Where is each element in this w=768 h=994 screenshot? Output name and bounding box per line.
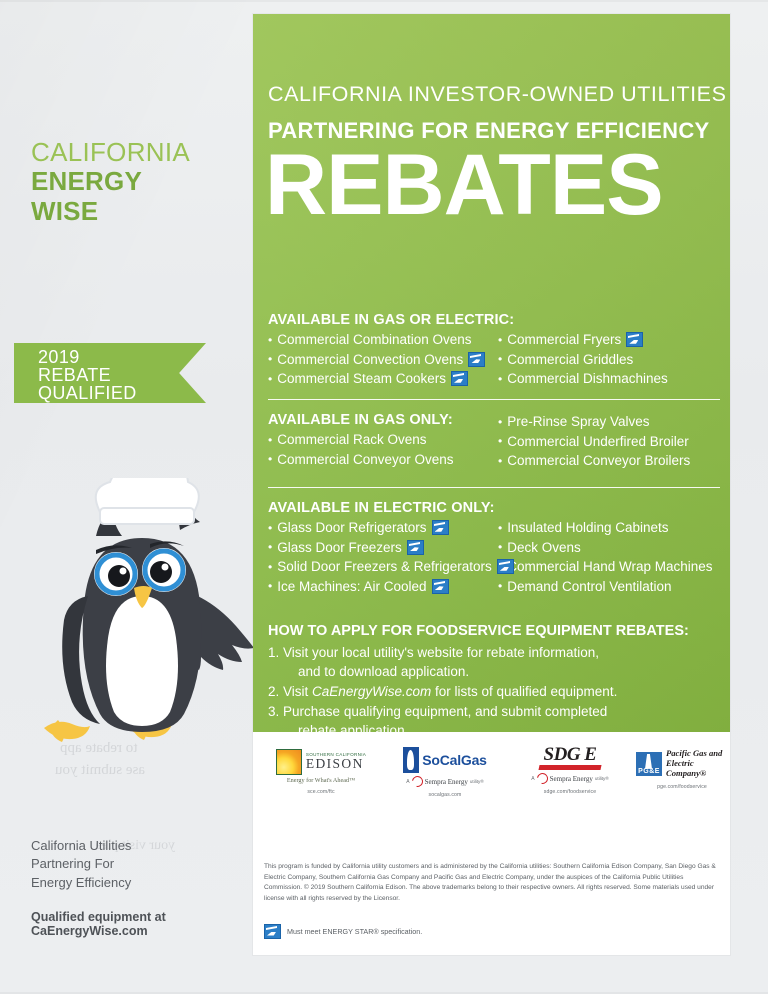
sdge-red-bar xyxy=(538,765,601,770)
equipment-item: •Commercial Rack Ovens xyxy=(268,430,498,450)
energy-star-icon xyxy=(432,520,449,535)
energy-star-icon xyxy=(626,332,643,347)
sempra-article: A xyxy=(406,779,409,785)
how-to-apply-block: HOW TO APPLY FOR FOODSERVICE EQUIPMENT R… xyxy=(268,623,720,741)
sce-lockup: SOUTHERN CALIFORNIA EDISON xyxy=(261,749,381,775)
equipment-label: Glass Door Refrigerators xyxy=(277,518,426,538)
chef-owl-mascot xyxy=(22,478,262,763)
apply-step-text: Visit your local utility's website for r… xyxy=(283,645,599,660)
apply-step-text: Visit xyxy=(283,684,312,699)
pge-badge-icon: PG&E xyxy=(636,752,662,776)
equipment-label: Commercial Conveyor Ovens xyxy=(277,450,453,470)
sunburst-icon xyxy=(276,749,302,775)
equipment-label: Glass Door Freezers xyxy=(277,538,402,558)
equipment-label: Commercial Conveyor Broilers xyxy=(507,451,690,471)
flame-icon xyxy=(403,747,419,773)
brand-line-energy: ENERGY xyxy=(31,167,190,196)
apply-step-number: 1. xyxy=(268,645,279,660)
sempra-endorsement: A Sempra Energy utility® xyxy=(511,773,629,784)
bullet-icon: • xyxy=(498,373,502,385)
apply-step-number: 3. xyxy=(268,704,279,719)
equipment-item: •Solid Door Freezers & Refrigerators xyxy=(268,557,498,577)
sempra-swirl-icon xyxy=(409,774,424,789)
left-footer-text: California Utilities Partnering For Ener… xyxy=(31,837,253,938)
equipment-label: Insulated Holding Cabinets xyxy=(507,518,668,538)
logo-socalgas: SoCalGas A Sempra Energy utility® socalg… xyxy=(386,747,504,798)
equipment-item: •Commercial Combination Ovens xyxy=(268,330,498,350)
apply-step-text-tail: for lists of qualified equipment. xyxy=(431,684,617,699)
equipment-label: Ice Machines: Air Cooled xyxy=(277,577,426,597)
logo-sdge: SDG E A Sempra Energy utility® sdge.com/… xyxy=(511,745,629,795)
equipment-label: Commercial Steam Cookers xyxy=(277,369,446,389)
apply-step-continuation: and to download application. xyxy=(283,662,720,681)
energy-star-icon xyxy=(468,352,485,367)
section-column-right: •Insulated Holding Cabinets •Deck Ovens … xyxy=(498,518,720,596)
bullet-icon: • xyxy=(498,455,502,467)
equipment-item: •Commercial Dishmachines xyxy=(498,369,720,389)
apply-title: HOW TO APPLY FOR FOODSERVICE EQUIPMENT R… xyxy=(268,623,720,639)
sempra-article: A xyxy=(531,776,534,782)
legal-disclaimer: This program is funded by California uti… xyxy=(264,862,719,905)
bullet-icon: • xyxy=(268,353,272,365)
caenergywise-link[interactable]: CaEnergyWise.com xyxy=(312,684,431,699)
pge-wordmark: Pacific Gas and Electric Company® xyxy=(666,749,728,779)
section-column-left: •Commercial Combination Ovens •Commercia… xyxy=(268,330,498,389)
bullet-icon: • xyxy=(498,435,502,447)
section-title: AVAILABLE IN ELECTRIC ONLY: xyxy=(268,500,720,516)
section-electric-only: AVAILABLE IN ELECTRIC ONLY: •Glass Door … xyxy=(268,500,720,596)
utility-logo-row: SOUTHERN CALIFORNIA EDISON Energy for Wh… xyxy=(253,737,730,809)
sempra-swirl-icon xyxy=(534,771,549,786)
section-gas-or-electric: AVAILABLE IN GAS OR ELECTRIC: •Commercia… xyxy=(268,312,720,389)
apply-step: 3. Purchase qualifying equipment, and su… xyxy=(268,702,720,740)
equipment-label: Commercial Dishmachines xyxy=(507,369,668,389)
equipment-label: Commercial Underfired Broiler xyxy=(507,432,689,452)
bullet-icon: • xyxy=(268,373,272,385)
equipment-label: Solid Door Freezers & Refrigerators xyxy=(277,557,492,577)
section-column-left: AVAILABLE IN GAS ONLY: •Commercial Rack … xyxy=(268,412,498,471)
equipment-label: Deck Ovens xyxy=(507,538,581,558)
left-footer-qualified-note: Qualified equipment at CaEnergyWise.com xyxy=(31,910,253,938)
equipment-label: Pre-Rinse Spray Valves xyxy=(507,412,649,432)
bullet-icon: • xyxy=(498,416,502,428)
apply-step-number: 2. xyxy=(268,684,279,699)
section-divider xyxy=(268,487,720,488)
energy-star-icon xyxy=(407,540,424,555)
equipment-item: •Commercial Griddles xyxy=(498,350,720,370)
equipment-item: •Commercial Underfired Broiler xyxy=(498,432,720,452)
equipment-item: •Commercial Convection Ovens xyxy=(268,350,498,370)
section-title: AVAILABLE IN GAS OR ELECTRIC: xyxy=(268,312,720,328)
bullet-icon: • xyxy=(268,561,272,573)
energy-star-icon xyxy=(264,924,281,939)
socalgas-url[interactable]: socalgas.com xyxy=(386,792,504,798)
sdge-name: SDG E xyxy=(511,745,629,764)
bullet-icon: • xyxy=(498,334,502,346)
socalgas-name: SoCalGas xyxy=(422,752,487,768)
energy-star-icon xyxy=(432,579,449,594)
equipment-item: •Pre-Rinse Spray Valves xyxy=(498,412,720,432)
sempra-endorsement: A Sempra Energy utility® xyxy=(386,776,504,787)
energy-star-icon xyxy=(497,559,514,574)
equipment-label: Commercial Griddles xyxy=(507,350,633,370)
sempra-name: Sempra Energy xyxy=(550,775,593,783)
equipment-item: •Commercial Steam Cookers xyxy=(268,369,498,389)
socalgas-lockup: SoCalGas xyxy=(386,747,504,773)
energy-star-footnote-text: Must meet ENERGY STAR® specification. xyxy=(287,927,422,936)
bullet-icon: • xyxy=(498,353,502,365)
equipment-item: •Demand Control Ventilation xyxy=(498,577,720,597)
apply-step-continuation: rebate application. xyxy=(283,721,720,740)
left-footer-line-3: Energy Efficiency xyxy=(31,874,253,892)
equipment-label: Demand Control Ventilation xyxy=(507,577,671,597)
apply-step-text: Purchase qualifying equipment, and submi… xyxy=(283,704,607,719)
bullet-icon: • xyxy=(268,522,272,534)
header-eyebrow: CALIFORNIA INVESTOR-OWNED UTILITIES xyxy=(268,82,726,107)
equipment-item: •Insulated Holding Cabinets xyxy=(498,518,720,538)
pge-url[interactable]: pge.com/foodservice xyxy=(636,784,728,790)
left-branding-column: CALIFORNIA ENERGY WISE 2019 REBATE QUALI… xyxy=(0,0,253,994)
sempra-utility-label: utility® xyxy=(470,779,484,784)
pge-lockup: PG&E Pacific Gas and Electric Company® xyxy=(636,749,728,779)
section-gas-only: AVAILABLE IN GAS ONLY: •Commercial Rack … xyxy=(268,412,720,471)
left-footer-line-2: Partnering For xyxy=(31,855,253,873)
sce-url[interactable]: sce.com/ftc xyxy=(261,789,381,795)
bullet-icon: • xyxy=(498,522,502,534)
apply-step: 1. Visit your local utility's website fo… xyxy=(268,643,720,681)
ribbon-qualified: QUALIFIED xyxy=(38,383,137,404)
equipment-label: Commercial Rack Ovens xyxy=(277,430,426,450)
section-divider xyxy=(268,399,720,400)
sce-tagline: Energy for What's Ahead™ xyxy=(261,777,381,784)
bullet-icon: • xyxy=(268,434,272,446)
equipment-label: Commercial Fryers xyxy=(507,330,621,350)
equipment-item: •Ice Machines: Air Cooled xyxy=(268,577,498,597)
bullet-icon: • xyxy=(268,580,272,592)
bullet-icon: • xyxy=(268,453,272,465)
section-column-left: •Glass Door Refrigerators •Glass Door Fr… xyxy=(268,518,498,596)
brand-lockup: CALIFORNIA ENERGY WISE xyxy=(31,138,190,226)
rebate-qualified-ribbon: 2019 REBATE QUALIFIED xyxy=(14,343,206,403)
logo-sce: SOUTHERN CALIFORNIA EDISON Energy for Wh… xyxy=(261,749,381,795)
bullet-icon: • xyxy=(268,334,272,346)
apply-step: 2. Visit CaEnergyWise.com for lists of q… xyxy=(268,682,720,701)
brand-line-wise: WISE xyxy=(31,197,190,226)
page-title: REBATES xyxy=(265,142,663,228)
bullet-icon: • xyxy=(498,580,502,592)
equipment-item: •Commercial Hand Wrap Machines xyxy=(498,557,720,577)
pge-letters: PG&E xyxy=(638,768,660,775)
energy-star-icon xyxy=(451,371,468,386)
equipment-item: •Commercial Conveyor Ovens xyxy=(268,450,498,470)
sempra-utility-label: utility® xyxy=(595,776,609,781)
left-footer-line-1: California Utilities xyxy=(31,837,253,855)
energy-star-footnote: Must meet ENERGY STAR® specification. xyxy=(264,924,422,939)
equipment-label: Commercial Convection Ovens xyxy=(277,350,463,370)
flyer-card: CALIFORNIA INVESTOR-OWNED UTILITIES PART… xyxy=(253,14,730,955)
logo-pge: PG&E Pacific Gas and Electric Company® p… xyxy=(636,749,728,790)
brand-line-california: CALIFORNIA xyxy=(31,138,190,167)
equipment-item: •Deck Ovens xyxy=(498,538,720,558)
section-title: AVAILABLE IN GAS ONLY: xyxy=(268,412,498,428)
bullet-icon: • xyxy=(498,541,502,553)
equipment-item: •Glass Door Refrigerators xyxy=(268,518,498,538)
section-column-right: •Commercial Fryers •Commercial Griddles … xyxy=(498,330,720,389)
scanned-page: to rebate app ase submit you your visit … xyxy=(0,0,768,994)
section-column-right: •Pre-Rinse Spray Valves •Commercial Unde… xyxy=(498,412,720,471)
bullet-icon: • xyxy=(268,541,272,553)
equipment-item: •Commercial Fryers xyxy=(498,330,720,350)
equipment-item: •Glass Door Freezers xyxy=(268,538,498,558)
sce-wordmark: SOUTHERN CALIFORNIA EDISON xyxy=(306,753,366,772)
equipment-label: Commercial Combination Ovens xyxy=(277,330,471,350)
equipment-item: •Commercial Conveyor Broilers xyxy=(498,451,720,471)
pge-name-line-2: Electric Company® xyxy=(666,759,728,779)
sempra-name: Sempra Energy xyxy=(425,778,468,786)
equipment-label: Commercial Hand Wrap Machines xyxy=(507,557,712,577)
sce-name: EDISON xyxy=(306,757,366,771)
sdge-url[interactable]: sdge.com/foodservice xyxy=(511,789,629,795)
